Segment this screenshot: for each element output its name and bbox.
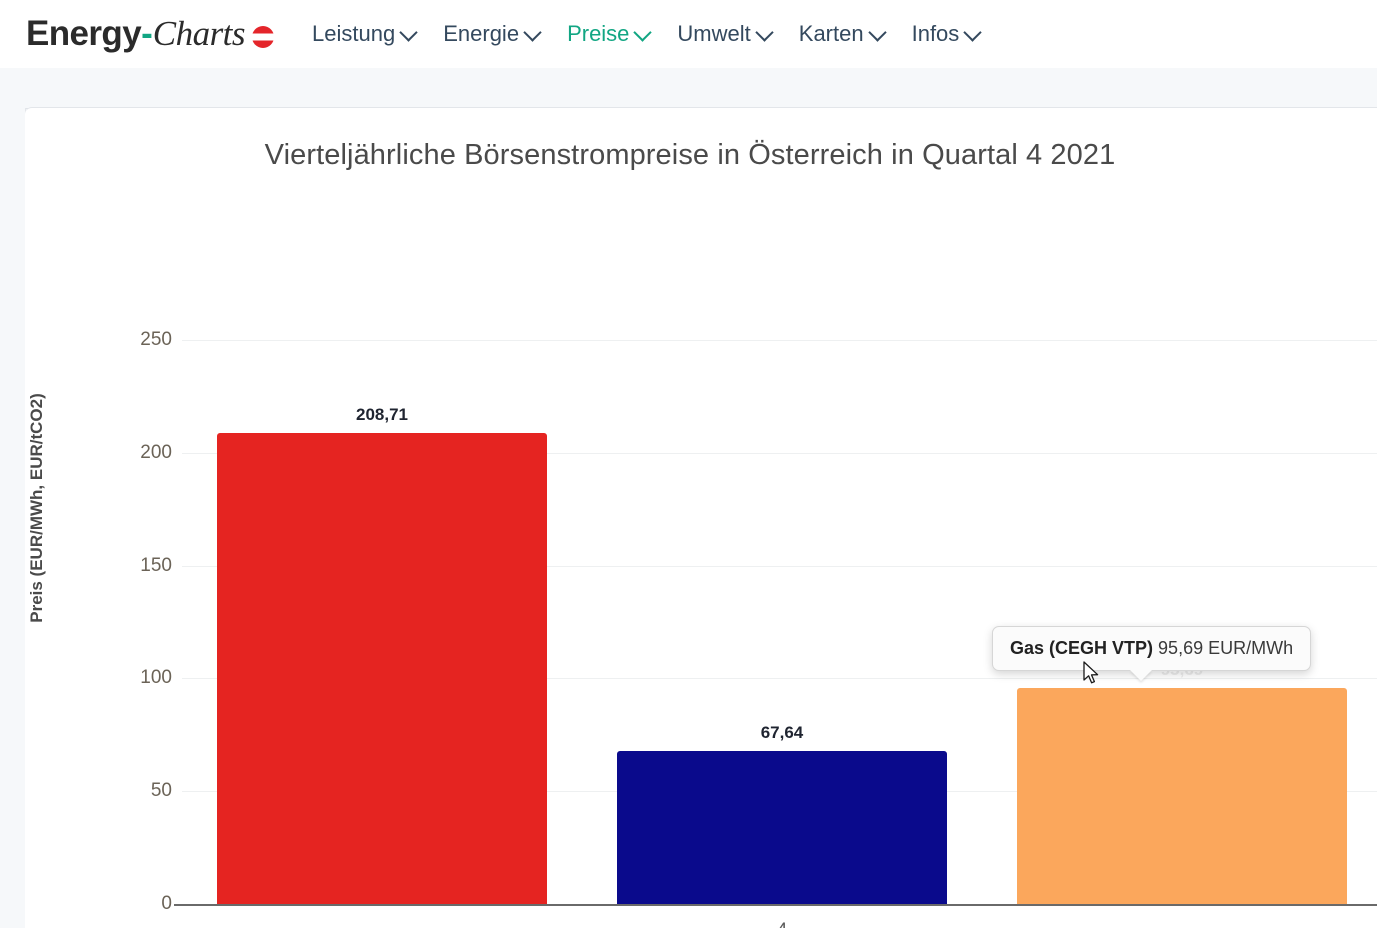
y-axis-title: Preis (EUR/MWh, EUR/tCO2): [27, 298, 47, 718]
nav-item-preise[interactable]: Preise: [567, 21, 649, 47]
tooltip-value: 95,69 EUR/MWh: [1158, 638, 1293, 658]
nav-item-label: Umwelt: [677, 21, 750, 47]
bar-gas-cegh-vtp[interactable]: [1017, 688, 1347, 904]
logo-dash: -: [141, 14, 153, 54]
x-axis-tick-label: 4: [182, 920, 1377, 928]
x-axis-baseline: [174, 904, 1377, 906]
y-axis-tick-label: 200: [112, 442, 172, 464]
y-axis-tick-label: 0: [112, 893, 172, 915]
nav-item-umwelt[interactable]: Umwelt: [677, 21, 770, 47]
austria-flag-icon: [252, 26, 274, 48]
chevron-down-icon: [868, 23, 886, 41]
plot-area: 208,7167,6495,69: [182, 340, 1377, 904]
tooltip-arrow: [1130, 670, 1152, 681]
nav-item-label: Leistung: [312, 21, 395, 47]
chart-card: Vierteljährliche Börsenstrompreise in Ös…: [25, 107, 1377, 928]
nav-item-label: Infos: [912, 21, 960, 47]
grid-line: [182, 340, 1377, 341]
tooltip-series-name: Gas (CEGH VTP): [1010, 638, 1153, 658]
bar-value-label: 67,64: [617, 723, 947, 743]
logo-word-energy: Energy: [26, 14, 141, 54]
page-root: Energy-Charts Leistung Energie Preise Um…: [0, 0, 1377, 928]
nav-item-leistung[interactable]: Leistung: [312, 21, 415, 47]
bar-co2-emissionszertifikate-auktion-eu[interactable]: [617, 751, 947, 904]
site-logo[interactable]: Energy-Charts: [26, 14, 274, 54]
chevron-down-icon: [400, 23, 418, 41]
page-side-gutter: [0, 108, 26, 928]
nav-item-karten[interactable]: Karten: [799, 21, 884, 47]
top-navbar: Energy-Charts Leistung Energie Preise Um…: [0, 0, 1377, 68]
bar-day-ahead-auktion-at[interactable]: [217, 433, 547, 904]
page-header-strip: [0, 68, 1377, 109]
nav-item-label: Energie: [443, 21, 519, 47]
nav-item-label: Karten: [799, 21, 864, 47]
nav-links: Leistung Energie Preise Umwelt Karten In…: [312, 21, 1007, 47]
chart-tooltip: Gas (CEGH VTP) 95,69 EUR/MWh: [992, 626, 1311, 671]
y-axis-tick-label: 100: [112, 667, 172, 689]
bar-value-label: 208,71: [217, 405, 547, 425]
y-axis-tick-label: 150: [112, 555, 172, 577]
nav-item-label: Preise: [567, 21, 629, 47]
y-axis-tick-label: 250: [112, 329, 172, 351]
nav-item-energie[interactable]: Energie: [443, 21, 539, 47]
chevron-down-icon: [755, 23, 773, 41]
chart-title: Vierteljährliche Börsenstrompreise in Ös…: [25, 139, 1355, 172]
chevron-down-icon: [523, 23, 541, 41]
nav-item-infos[interactable]: Infos: [912, 21, 980, 47]
logo-word-charts: Charts: [153, 14, 245, 54]
chevron-down-icon: [964, 23, 982, 41]
y-axis-tick-label: 50: [112, 780, 172, 802]
chevron-down-icon: [634, 23, 652, 41]
